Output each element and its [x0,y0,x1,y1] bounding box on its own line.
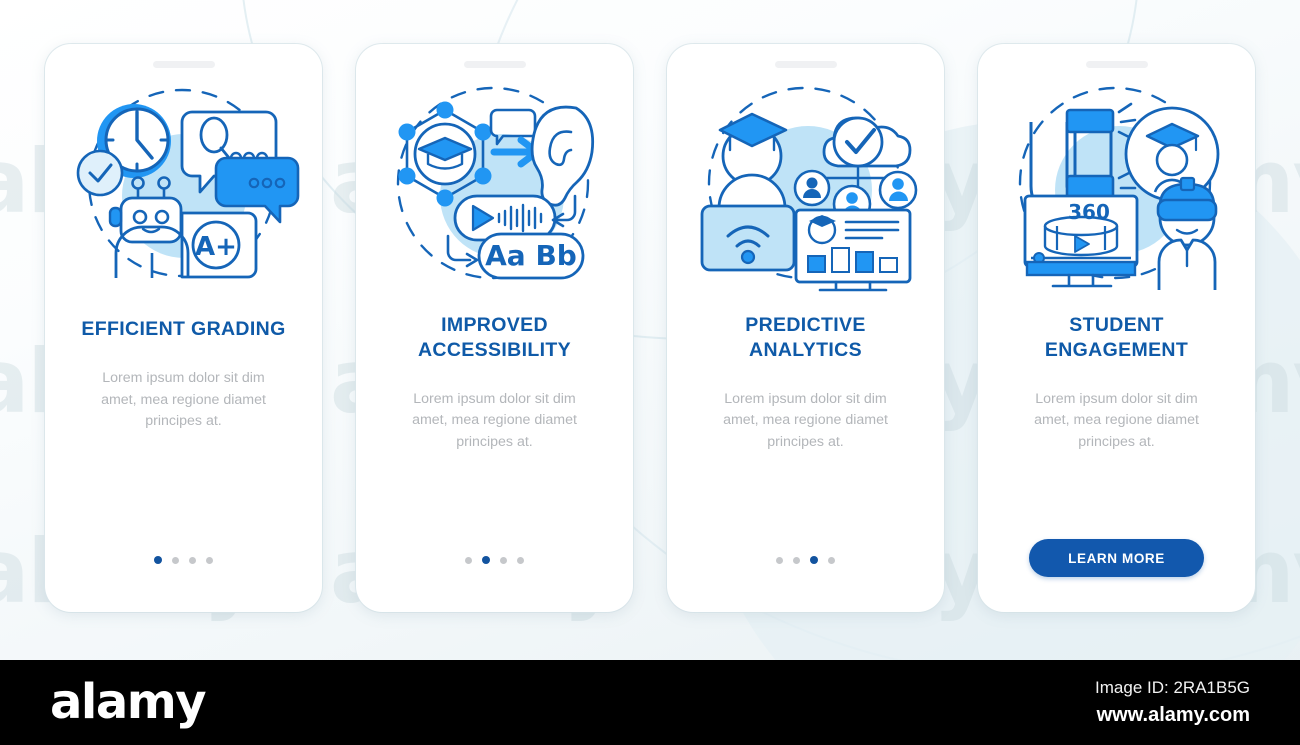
screen-description-line: principes at. [145,413,222,429]
screen-title-line: ENGAGEMENT [1045,339,1188,361]
phone-speaker-bar [1086,61,1148,68]
screen-description-line: amet, mea regione diamet [1034,412,1199,428]
pagination-dot-1[interactable] [465,557,472,564]
pagination-dot-1[interactable] [776,557,783,564]
svg-text:A+: A+ [195,232,237,262]
screen-description-line: principes at. [767,434,844,450]
screen-description: Lorem ipsum dolor sit dimamet, mea regio… [1014,389,1219,454]
pagination-dot-3[interactable] [189,557,196,564]
alamy-url-label: www.alamy.com [1097,704,1250,727]
screen-title-line: STUDENT [1069,314,1164,336]
screen-description-line: amet, mea regione diamet [723,412,888,428]
screen-title: EFFICIENT GRADING [69,317,299,342]
phone-screen-student-engagement: 360 STUDENTENGAGEMENTLorem ipsum dolor s… [978,44,1255,612]
screen-description-line: Lorem ipsum dolor sit dim [724,391,886,407]
phone-speaker-bar [775,61,837,68]
pagination-dot-3-active[interactable] [810,556,818,564]
accessibility-illustration: Aa Bb [375,78,615,293]
pagination-dot-1-active[interactable] [154,556,162,564]
alamy-footer-bar: alamy Image ID: 2RA1B5G www.alamy.com [0,660,1300,745]
phone-speaker-bar [464,61,526,68]
screen-description-line: amet, mea regione diamet [101,392,266,408]
alamy-logo: alamy [50,678,205,726]
pagination-dots[interactable] [776,556,835,564]
phone-screen-efficient-grading: A+ EFFICIENT GRADINGLorem ipsum dolor si… [45,44,322,612]
svg-text:360: 360 [1068,200,1110,224]
svg-text:Aa Bb: Aa Bb [485,239,577,272]
screen-title-line: EFFICIENT GRADING [81,318,285,340]
image-id-label: Image ID: 2RA1B5G [1095,678,1250,698]
phone-screen-improved-accessibility: Aa Bb IMPROVEDACCESSIBILITYLorem ipsum d… [356,44,633,612]
screen-description-line: Lorem ipsum dolor sit dim [413,391,575,407]
screen-title-line: ACCESSIBILITY [418,339,571,361]
grading-illustration: A+ [64,78,304,293]
screen-description: Lorem ipsum dolor sit dimamet, mea regio… [703,389,908,454]
screen-title-line: ANALYTICS [749,339,862,361]
screen-description-line: principes at. [1078,434,1155,450]
screen-title: PREDICTIVEANALYTICS [691,313,921,363]
screen-description: Lorem ipsum dolor sit dimamet, mea regio… [392,389,597,454]
screen-description-line: principes at. [456,434,533,450]
screen-description: Lorem ipsum dolor sit dimamet, mea regio… [81,368,286,433]
pagination-dots[interactable] [465,556,524,564]
phone-speaker-bar [153,61,215,68]
screen-description-line: Lorem ipsum dolor sit dim [102,370,264,386]
pagination-dots[interactable] [154,556,213,564]
screen-description-line: amet, mea regione diamet [412,412,577,428]
learn-more-button[interactable]: LEARN MORE [1029,539,1204,577]
screen-title-line: PREDICTIVE [745,314,866,336]
pagination-dot-4[interactable] [517,557,524,564]
onboarding-screens-row: A+ EFFICIENT GRADINGLorem ipsum dolor si… [45,44,1255,612]
analytics-illustration [686,78,926,293]
screen-description-line: Lorem ipsum dolor sit dim [1035,391,1197,407]
screen-title-line: IMPROVED [441,314,548,336]
pagination-dot-4[interactable] [828,557,835,564]
phone-screen-predictive-analytics: PREDICTIVEANALYTICSLorem ipsum dolor sit… [667,44,944,612]
engagement-illustration: 360 [997,78,1237,293]
pagination-dot-4[interactable] [206,557,213,564]
pagination-dot-2[interactable] [793,557,800,564]
screen-title: STUDENTENGAGEMENT [1002,313,1232,363]
screenshot-canvas: alamyalamyalamyalamyalamyalamyalamyalamy… [0,0,1300,745]
pagination-dot-2[interactable] [172,557,179,564]
screen-title: IMPROVEDACCESSIBILITY [380,313,610,363]
pagination-dot-2-active[interactable] [482,556,490,564]
pagination-dot-3[interactable] [500,557,507,564]
